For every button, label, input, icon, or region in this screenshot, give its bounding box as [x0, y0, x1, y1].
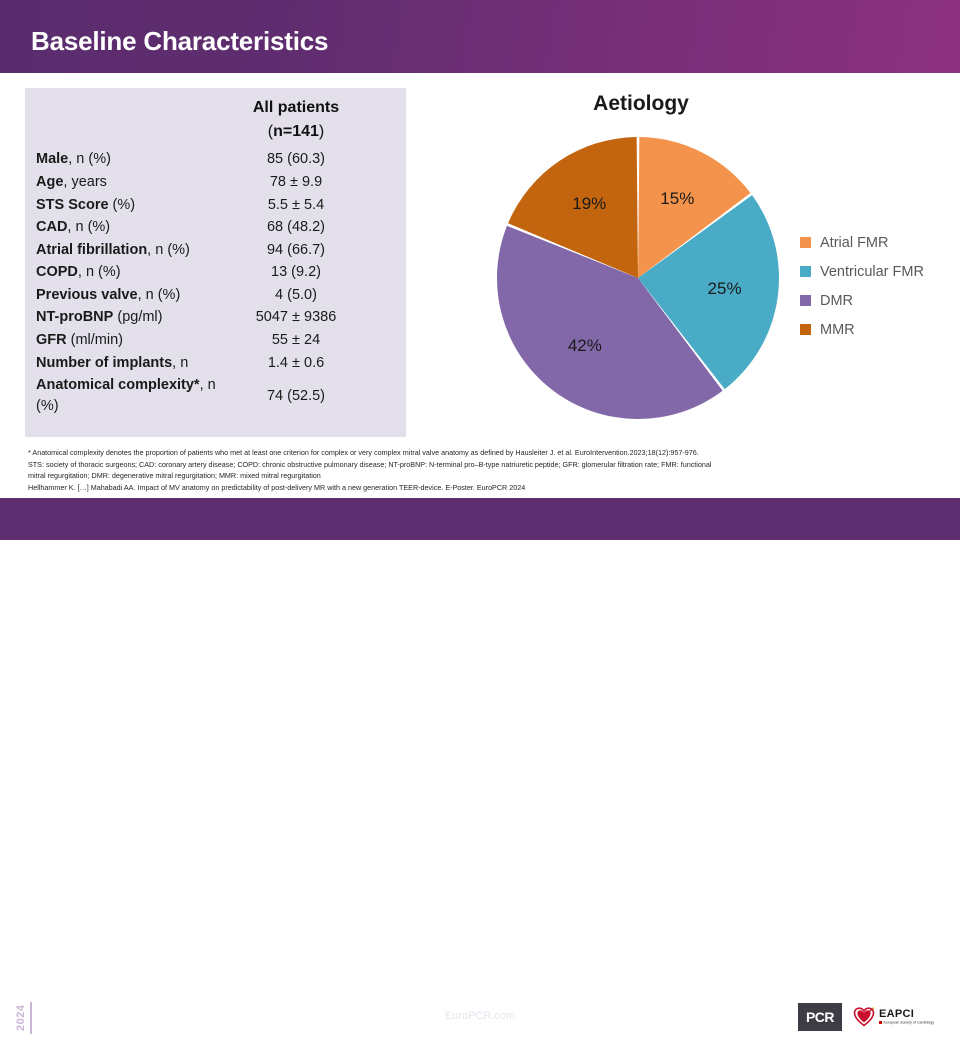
- legend-item-dmr: DMR: [800, 286, 960, 315]
- row-value-gfr: 55 ± 24: [221, 329, 406, 352]
- row-label-bold: CAD: [36, 219, 67, 235]
- baseline-characteristics-table: All patients (n=141) Male, n (%) 85 (60.…: [25, 88, 406, 417]
- row-label-bold: Atrial fibrillation: [36, 242, 147, 258]
- table-row: COPD, n (%) 13 (9.2): [25, 261, 406, 284]
- row-label-bold: Male: [36, 151, 68, 167]
- slide-header-bar: Baseline Characteristics: [0, 0, 960, 73]
- table-row: Previous valve, n (%) 4 (5.0): [25, 284, 406, 307]
- table-header-all-patients: All patients (n=141): [221, 88, 406, 148]
- footnote-line-1: * Anatomical complexity denotes the prop…: [28, 447, 938, 459]
- legend-item-ventricular-fmr: Ventricular FMR: [800, 257, 960, 286]
- legend-label: Atrial FMR: [820, 235, 888, 251]
- row-label-rest: , n (%): [138, 287, 181, 303]
- pie-svg: [488, 128, 788, 428]
- row-label-rest: , n (%): [67, 219, 110, 235]
- footnote-line-3: mitral regurgitation; DMR: degenerative …: [28, 470, 938, 482]
- pie-label-mmr: 19%: [569, 194, 609, 214]
- row-value-number-of-implants: 1.4 ± 0.6: [221, 352, 406, 375]
- row-label-sts-score: STS Score (%): [25, 194, 221, 217]
- row-label-bold: Age: [36, 174, 63, 190]
- legend-swatch-icon: [800, 237, 811, 248]
- table-row: NT-proBNP (pg/ml) 5047 ± 9386: [25, 306, 406, 329]
- eapci-text-block: EAPCI European Society of Cardiology: [879, 1009, 934, 1026]
- table-row: Number of implants, n 1.4 ± 0.6: [25, 352, 406, 375]
- row-label-previous-valve: Previous valve, n (%): [25, 284, 221, 307]
- row-label-rest: (ml/min): [67, 332, 123, 348]
- pcr-badge-label: PCR: [806, 1009, 834, 1025]
- row-label-bold: STS Score: [36, 197, 109, 213]
- row-value-sts-score: 5.5 ± 5.4: [221, 194, 406, 217]
- legend-swatch-icon: [800, 266, 811, 277]
- row-label-nt-probnp: NT-proBNP (pg/ml): [25, 306, 221, 329]
- row-value-anatomical-complexity: 74 (52.5): [221, 374, 406, 417]
- legend-swatch-icon: [800, 324, 811, 335]
- esc-dot-icon: [879, 1021, 882, 1024]
- legend-item-mmr: MMR: [800, 315, 960, 344]
- table-row: Male, n (%) 85 (60.3): [25, 148, 406, 171]
- footnote-line-4: Hellhammer K. […] Mahabadi AA. Impact of…: [28, 482, 938, 494]
- eapci-name: EAPCI: [879, 1009, 934, 1020]
- pie-label-ventricular-fmr: 25%: [705, 279, 745, 299]
- chart-legend: Atrial FMR Ventricular FMR DMR MMR: [800, 228, 960, 344]
- legend-swatch-icon: [800, 295, 811, 306]
- table-header-row: All patients (n=141): [25, 88, 406, 148]
- row-value-age: 78 ± 9.9: [221, 171, 406, 194]
- table-row: CAD, n (%) 68 (48.2): [25, 216, 406, 239]
- eapci-subtitle-wrap: European Society of Cardiology: [879, 1021, 934, 1025]
- table-row: Age, years 78 ± 9.9: [25, 171, 406, 194]
- heart-icon: [853, 1007, 875, 1027]
- row-label-gfr: GFR (ml/min): [25, 329, 221, 352]
- table-header-line2: (n=141): [221, 120, 371, 149]
- table-header-n: n=141: [273, 123, 319, 140]
- row-label-bold: Previous valve: [36, 287, 138, 303]
- row-value-nt-probnp: 5047 ± 9386: [221, 306, 406, 329]
- pcr-badge-logo: PCR: [798, 1003, 842, 1031]
- row-label-cad: CAD, n (%): [25, 216, 221, 239]
- legend-label: MMR: [820, 322, 855, 338]
- row-label-male: Male, n (%): [25, 148, 221, 171]
- row-label-rest: , n (%): [147, 242, 190, 258]
- row-label-bold: GFR: [36, 332, 67, 348]
- row-label-rest: , n (%): [68, 151, 111, 167]
- row-label-copd: COPD, n (%): [25, 261, 221, 284]
- baseline-characteristics-panel: All patients (n=141) Male, n (%) 85 (60.…: [25, 88, 406, 437]
- table-row: Atrial fibrillation, n (%) 94 (66.7): [25, 239, 406, 262]
- row-label-anatomical-complexity: Anatomical complexity*, n (%): [25, 374, 221, 417]
- legend-label: DMR: [820, 293, 853, 309]
- table-row: STS Score (%) 5.5 ± 5.4: [25, 194, 406, 217]
- row-label-bold: Number of implants: [36, 355, 172, 371]
- eapci-badge-logo: EAPCI European Society of Cardiology: [848, 1001, 946, 1033]
- row-label-bold: Anatomical complexity*: [36, 377, 200, 393]
- row-label-number-of-implants: Number of implants, n: [25, 352, 221, 375]
- table-header-line1: All patients: [221, 88, 371, 120]
- page-title: Baseline Characteristics: [31, 26, 328, 57]
- row-value-male: 85 (60.3): [221, 148, 406, 171]
- row-label-atrial-fibrillation: Atrial fibrillation, n (%): [25, 239, 221, 262]
- legend-label: Ventricular FMR: [820, 264, 924, 280]
- eapci-subtitle: European Society of Cardiology: [884, 1021, 935, 1025]
- row-value-previous-valve: 4 (5.0): [221, 284, 406, 307]
- row-value-cad: 68 (48.2): [221, 216, 406, 239]
- legend-item-atrial-fmr: Atrial FMR: [800, 228, 960, 257]
- row-label-rest: , n (%): [78, 264, 121, 280]
- row-label-rest: , n: [172, 355, 188, 371]
- footnotes-block: * Anatomical complexity denotes the prop…: [28, 447, 938, 494]
- aetiology-pie-chart: 15%25%42%19%: [488, 128, 788, 428]
- table-row: Anatomical complexity*, n (%) 74 (52.5): [25, 374, 406, 417]
- row-label-bold: COPD: [36, 264, 78, 280]
- row-label-rest: , years: [63, 174, 107, 190]
- row-value-atrial-fibrillation: 94 (66.7): [221, 239, 406, 262]
- pie-slice-group: [497, 137, 779, 419]
- pie-label-dmr: 42%: [565, 336, 605, 356]
- table-header-spacer: [25, 88, 221, 148]
- footnote-line-2: STS: society of thoracic surgeons; CAD: …: [28, 459, 938, 471]
- row-label-rest: (pg/ml): [113, 309, 162, 325]
- pie-label-atrial-fmr: 15%: [657, 189, 697, 209]
- row-value-copd: 13 (9.2): [221, 261, 406, 284]
- row-label-rest: (%): [109, 197, 136, 213]
- slide-footer-bar: 2024 euro PCR EuroPCR.com PCR EAPCI Euro…: [0, 498, 960, 540]
- row-label-age: Age, years: [25, 171, 221, 194]
- table-row: GFR (ml/min) 55 ± 24: [25, 329, 406, 352]
- row-label-bold: NT-proBNP: [36, 309, 113, 325]
- chart-title: Aetiology: [496, 92, 786, 116]
